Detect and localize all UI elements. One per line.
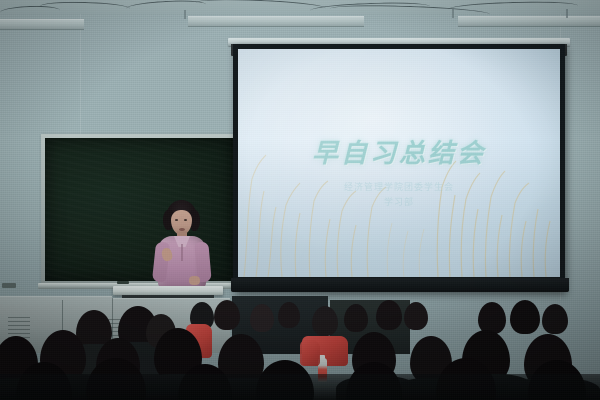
- student-head: [250, 304, 274, 332]
- audience-foreground: [0, 374, 600, 400]
- presenter: [150, 200, 214, 292]
- student-head: [404, 302, 428, 330]
- audience: [0, 300, 600, 400]
- slide-subtitle-line1: 经济管理学院团委学生会: [238, 180, 560, 193]
- classroom-photo: 早自习总结会 经济管理学院团委学生会 学习部: [0, 0, 600, 400]
- student-head: [510, 300, 540, 334]
- student-head: [542, 304, 568, 334]
- ceiling-mount-tick: [452, 9, 454, 18]
- student-head: [478, 302, 506, 334]
- slide-title: 早自习总结会: [238, 133, 560, 170]
- student-head: [344, 304, 368, 332]
- ceiling-mount-tick: [566, 9, 568, 18]
- student-head: [312, 306, 338, 336]
- ceiling-light-fixture: [458, 16, 600, 27]
- chalk-piece: [117, 281, 129, 284]
- podium-surface: [113, 286, 223, 295]
- blackboard-eraser: [2, 283, 16, 288]
- presenter-placket: [181, 244, 183, 261]
- ceiling-mount-tick: [184, 10, 186, 19]
- student-head: [376, 300, 402, 330]
- presenter-hand-right: [189, 276, 200, 285]
- student-head: [214, 300, 240, 330]
- projector-screen-weight-bar: [231, 278, 569, 292]
- presenter-eye-right: [184, 219, 187, 221]
- ceiling-light-fixture: [188, 16, 364, 27]
- projector-screen: 早自习总结会 经济管理学院团委学生会 学习部: [238, 49, 560, 277]
- red-jacket: [300, 340, 320, 366]
- presenter-eye-left: [175, 219, 178, 221]
- student-head: [278, 302, 300, 328]
- slide-subtitle-line2: 学习部: [238, 195, 560, 208]
- ceiling-light-fixture: [0, 19, 84, 30]
